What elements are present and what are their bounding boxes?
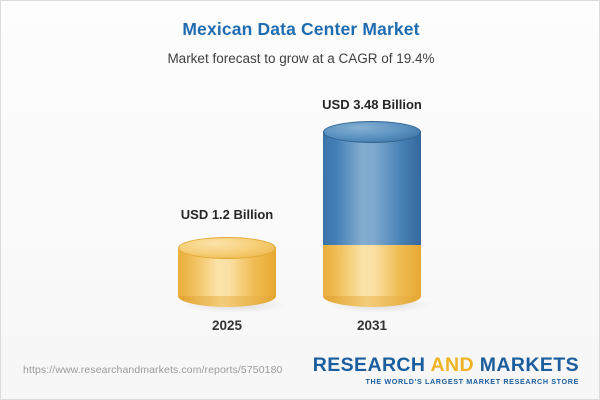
bar-segment-growth-body-2031: [323, 132, 421, 245]
logo-markets-text: MARKETS: [474, 354, 579, 376]
bar-value-label-2025: USD 1.2 Billion: [117, 207, 337, 222]
bar-cylinder-2025: [178, 237, 276, 307]
bar-value-label-2031: USD 3.48 Billion: [262, 97, 482, 112]
chart-card: Mexican Data Center Market Market foreca…: [0, 0, 600, 400]
bar-cylinder-top-2025: [178, 237, 276, 259]
research-and-markets-logo[interactable]: RESEARCH AND MARKETS THE WORLD'S LARGEST…: [313, 355, 579, 386]
logo-wordmark: RESEARCH AND MARKETS: [313, 355, 579, 375]
report-url[interactable]: https://www.researchandmarkets.com/repor…: [23, 364, 282, 376]
footer: https://www.researchandmarkets.com/repor…: [1, 347, 599, 399]
bar-segment-base-body-2031: [323, 244, 421, 296]
chart-plot-area: USD 1.2 Billion 2025 USD 3.48 Billion: [1, 1, 600, 346]
logo-and-text: AND: [431, 354, 474, 376]
logo-tagline: THE WORLD'S LARGEST MARKET RESEARCH STOR…: [313, 377, 579, 386]
bar-category-label-2031: 2031: [262, 318, 482, 333]
bar-cylinder-top-2031: [323, 121, 421, 143]
bar-cylinder-2031: [323, 121, 421, 307]
logo-research-text: RESEARCH: [313, 354, 431, 376]
